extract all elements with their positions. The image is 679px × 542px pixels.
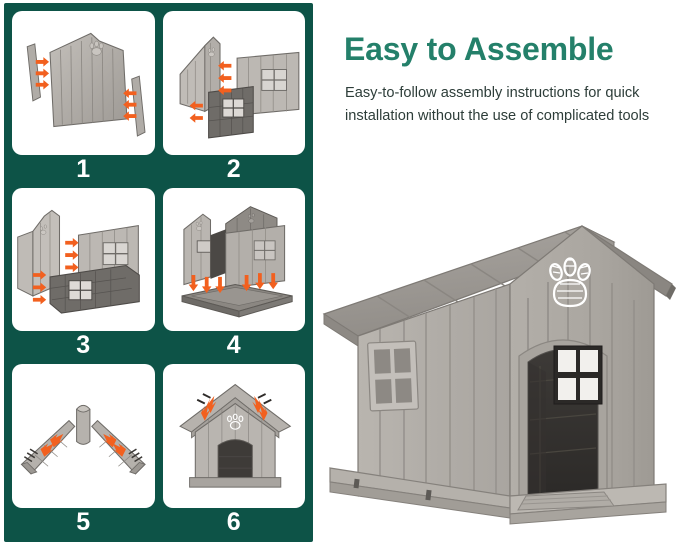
interior-window (554, 346, 602, 404)
assembly-step-1: 1 (8, 8, 159, 185)
gable-wall-with-side-rails-icon (12, 11, 155, 155)
assembly-step-1-card (12, 11, 155, 155)
assembly-step-6-card (163, 364, 306, 508)
assembly-step-6: 6 (159, 361, 310, 538)
page-title: Easy to Assemble (344, 32, 664, 68)
side-walls-joining-icon (163, 11, 306, 155)
assembly-step-2-number: 2 (227, 155, 241, 185)
assembly-step-5-card (12, 364, 155, 508)
assembly-step-2: 2 (159, 8, 310, 185)
product-photo-dog-house (314, 196, 679, 542)
dog-house-illustration (314, 196, 679, 542)
roof-halves-and-ridge-icon (12, 364, 155, 508)
assembly-step-5-number: 5 (76, 508, 90, 538)
assembly-step-3: 3 (8, 185, 159, 362)
assembly-step-3-number: 3 (76, 331, 90, 361)
assembly-step-5: 5 (8, 361, 159, 538)
walls-assembled-box-icon (12, 188, 155, 332)
page-subtitle: Easy-to-follow assembly instructions for… (345, 82, 667, 129)
walls-onto-floor-base-icon (163, 188, 306, 332)
assembly-step-4-card (163, 188, 306, 332)
finished-dog-house-icon (163, 364, 306, 508)
assembly-step-4-number: 4 (227, 331, 241, 361)
assembly-step-6-number: 6 (227, 508, 241, 538)
assembly-step-4: 4 (159, 185, 310, 362)
side-window (368, 341, 419, 411)
assembly-step-1-number: 1 (76, 155, 90, 185)
assembly-step-3-card (12, 188, 155, 332)
assembly-step-2-card (163, 11, 306, 155)
assembly-steps-grid: 1 (4, 3, 313, 542)
assembly-steps-panel: 1 (4, 3, 313, 542)
